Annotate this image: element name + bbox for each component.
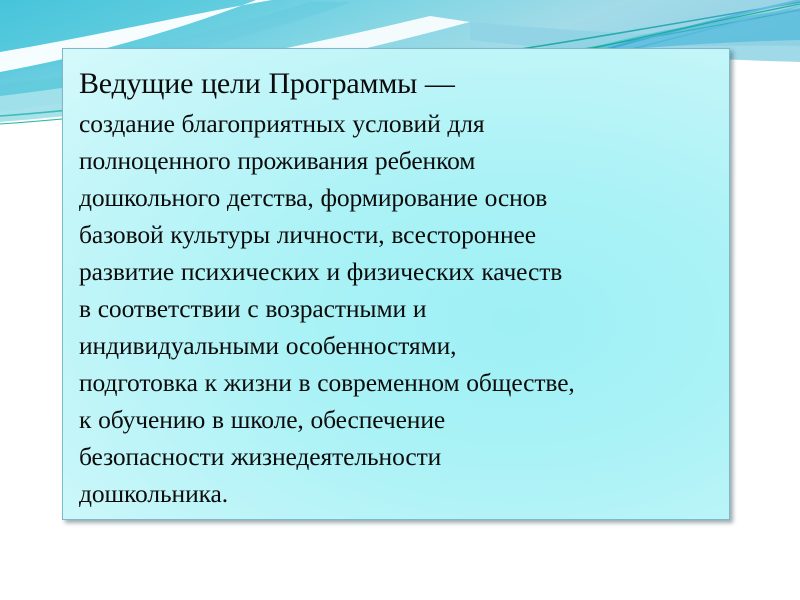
- text-line-5: базовой культуры личности, всестороннее: [79, 216, 713, 253]
- text-line-10: к обучению в школе, обеспечение: [79, 401, 713, 438]
- text-line-6: развитие психических и физических качест…: [79, 253, 713, 290]
- text-line-12: дошкольника.: [79, 475, 713, 512]
- text-line-3: полноценного проживания ребенком: [79, 142, 713, 179]
- content-text-box: Ведущие цели Программы — создание благоп…: [62, 48, 730, 520]
- text-line-2: создание благоприятных условий для: [79, 105, 713, 142]
- presentation-slide: Ведущие цели Программы — создание благоп…: [0, 0, 800, 600]
- text-line-9: подготовка к жизни в современном обществ…: [79, 364, 713, 401]
- text-line-1: Ведущие цели Программы —: [79, 63, 713, 105]
- text-line-7: в соответствии с возрастными и: [79, 290, 713, 327]
- accent-line-blue: [596, 0, 800, 52]
- slide-body-text: Ведущие цели Программы — создание благоп…: [79, 63, 713, 512]
- text-line-8: индивидуальными особенностями,: [79, 327, 713, 364]
- text-line-11: безопасности жизнедеятельности: [79, 438, 713, 475]
- text-line-4: дошкольного детства, формирование основ: [79, 179, 713, 216]
